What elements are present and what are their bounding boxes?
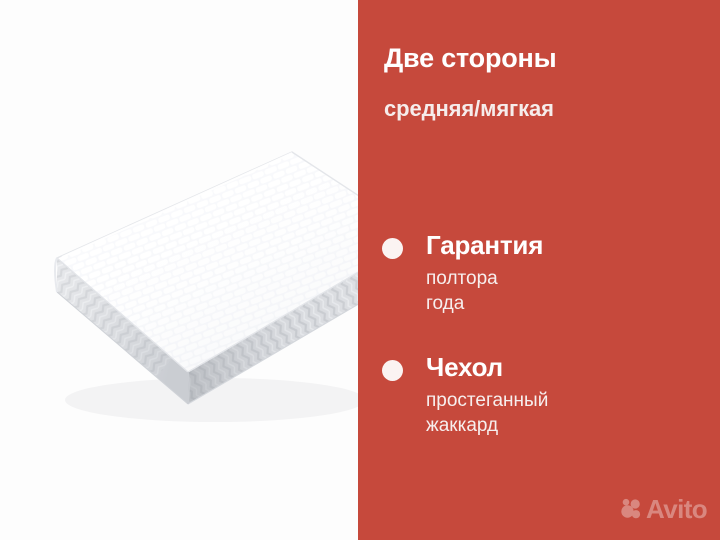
mattress-top-face [30, 130, 358, 400]
listing-image: Две стороны средняя/мягкая Гарантия полт… [0, 0, 720, 540]
feature-title: Гарантия [426, 232, 543, 259]
feature-title: Чехол [426, 354, 503, 381]
subheadline: средняя/мягкая [384, 97, 554, 121]
feature-description: полтора года [426, 266, 498, 317]
bullet-dot-icon [382, 238, 403, 259]
avito-watermark: Avito [620, 496, 707, 522]
headline: Две стороны [384, 44, 557, 74]
avito-wordmark: Avito [646, 496, 707, 522]
avito-dots-icon [620, 498, 642, 520]
mattress-illustration [0, 0, 358, 540]
product-photo-panel [0, 0, 358, 540]
info-panel: Две стороны средняя/мягкая Гарантия полт… [358, 0, 720, 540]
feature-description: простеганный жаккард [426, 388, 548, 439]
bullet-dot-icon [382, 360, 403, 381]
